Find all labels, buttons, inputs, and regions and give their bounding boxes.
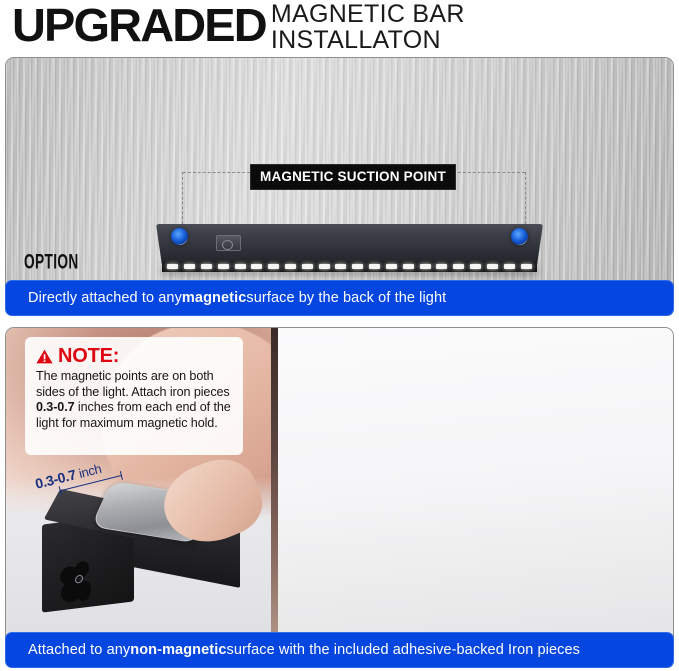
led-diode xyxy=(302,264,313,269)
light-bar-body xyxy=(156,224,543,264)
page-header: UPGRADED MAGNETIC BAR INSTALLATON xyxy=(0,0,679,56)
motion-sensor-icon xyxy=(216,235,241,251)
option-02-caption: Attached to any non-magnetic surface wit… xyxy=(5,632,674,668)
caption-text-after: surface with the included adhesive-backe… xyxy=(227,642,581,658)
led-diode xyxy=(167,264,178,269)
note-line-3-before: pieces xyxy=(194,385,230,399)
led-diode xyxy=(369,264,380,269)
magnetic-suction-point-label: MAGNETIC SUCTION POINT xyxy=(250,164,456,190)
led-diode xyxy=(235,264,246,269)
led-diode xyxy=(386,264,397,269)
magnet-point-right-icon xyxy=(511,228,528,245)
led-diode xyxy=(201,264,212,269)
caption-text-before: Directly attached to any xyxy=(28,290,182,306)
led-diode xyxy=(251,264,262,269)
note-line-3-after: inches from each xyxy=(75,400,173,414)
magnet-point-left-icon xyxy=(171,228,188,245)
option-01-caption: Directly attached to any magnetic surfac… xyxy=(5,280,674,316)
page-subtitle: MAGNETIC BAR INSTALLATON xyxy=(271,1,465,53)
note-title: NOTE: xyxy=(58,346,119,366)
led-diode xyxy=(436,264,447,269)
note-body: The magnetic points are on both sides of… xyxy=(36,369,233,431)
led-diode xyxy=(268,264,279,269)
led-diode xyxy=(285,264,296,269)
note-line-5: magnetic hold. xyxy=(137,416,218,430)
led-diode xyxy=(218,264,229,269)
led-light-bar xyxy=(156,224,543,276)
led-diode xyxy=(335,264,346,269)
note-line-2: sides of the light. Attach iron xyxy=(36,385,190,399)
option-01-panel: MAGNETIC SUCTION POINT xyxy=(5,57,674,315)
led-diode xyxy=(470,264,481,269)
led-diode xyxy=(487,264,498,269)
caption-text-bold: non-magnetic xyxy=(130,642,226,658)
led-diode xyxy=(184,264,195,269)
led-diode xyxy=(352,264,363,269)
plug-socket-icon xyxy=(58,557,100,613)
led-diode xyxy=(403,264,414,269)
led-diode xyxy=(453,264,464,269)
led-diode xyxy=(521,264,532,269)
caption-text-after: surface by the back of the light xyxy=(246,290,446,306)
led-diode xyxy=(420,264,431,269)
note-line-1: The magnetic points are on both xyxy=(36,369,214,383)
caption-text-bold: magnetic xyxy=(182,290,246,306)
hands-photo-background xyxy=(271,328,674,666)
note-measure-bold: 0.3-0.7 xyxy=(36,400,75,414)
note-header: NOTE: xyxy=(36,346,233,366)
caption-text-before: Attached to any xyxy=(28,642,130,658)
measurement-unit: inch xyxy=(74,461,103,482)
warning-triangle-icon xyxy=(36,349,53,364)
page-title: UPGRADED xyxy=(12,0,266,50)
iron-piece-demo xyxy=(42,497,238,615)
note-card: NOTE: The magnetic points are on both si… xyxy=(25,337,243,455)
led-diode xyxy=(504,264,515,269)
led-strip xyxy=(162,261,537,272)
led-diode xyxy=(319,264,330,269)
